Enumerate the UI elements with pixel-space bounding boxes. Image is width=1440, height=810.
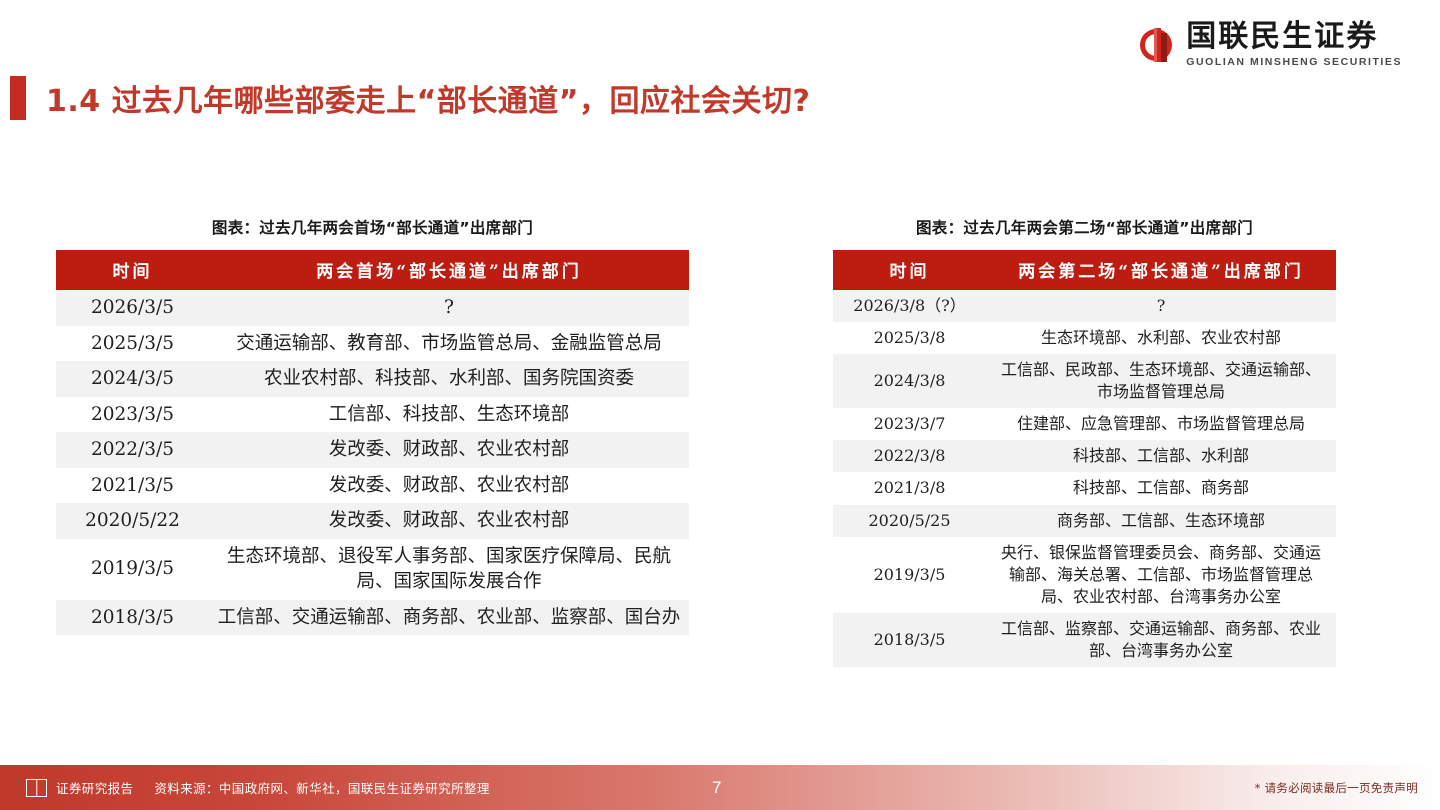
cell-departments: 科技部、工信部、商务部 [986, 472, 1336, 504]
table-row: 2022/3/5发改委、财政部、农业农村部 [56, 432, 689, 468]
table-header-row: 时间 两会第二场“部长通道”出席部门 [833, 250, 1336, 290]
cell-date: 2019/3/5 [56, 539, 209, 600]
cell-date: 2025/3/5 [56, 326, 209, 362]
table-row: 2023/3/7住建部、应急管理部、市场监督管理总局 [833, 408, 1336, 440]
cell-departments: 央行、银保监督管理委员会、商务部、交通运输部、海关总署、工信部、市场监督管理总局… [986, 537, 1336, 613]
cell-departments: 生态环境部、退役军人事务部、国家医疗保障局、民航局、国家国际发展合作 [209, 539, 689, 600]
table-row: 2021/3/8科技部、工信部、商务部 [833, 472, 1336, 504]
table-row: 2024/3/5农业农村部、科技部、水利部、国务院国资委 [56, 361, 689, 397]
panel-second-session: 图表：过去几年两会第二场“部长通道”出席部门 时间 两会第二场“部长通道”出席部… [833, 216, 1336, 667]
cell-date: 2019/3/5 [833, 537, 986, 613]
cell-departments: 商务部、工信部、生态环境部 [986, 505, 1336, 537]
table-second-session: 时间 两会第二场“部长通道”出席部门 2026/3/8（?）?2025/3/8生… [833, 250, 1336, 667]
cell-date: 2018/3/5 [56, 600, 209, 636]
table-header-row: 时间 两会首场“部长通道”出席部门 [56, 250, 689, 290]
logo-chinese-name: 国联民生证券 [1186, 22, 1402, 52]
table-row: 2019/3/5央行、银保监督管理委员会、商务部、交通运输部、海关总署、工信部、… [833, 537, 1336, 613]
cell-departments: 工信部、交通运输部、商务部、农业部、监察部、国台办 [209, 600, 689, 636]
cell-departments: 交通运输部、教育部、市场监管总局、金融监管总局 [209, 326, 689, 362]
cell-departments: 工信部、监察部、交通运输部、商务部、农业部、台湾事务办公室 [986, 613, 1336, 667]
title-accent-bar [10, 76, 26, 120]
brand-logo: 国联民生证券 GUOLIAN MINSHENG SECURITIES [1136, 22, 1402, 68]
page-title: 1.4 过去几年哪些部委走上“部长通道”，回应社会关切? [46, 76, 810, 120]
table-row: 2026/3/5? [56, 290, 689, 326]
table-row: 2021/3/5发改委、财政部、农业农村部 [56, 468, 689, 504]
footer-source-text: 资料来源：中国政府网、新华社，国联民生证券研究所整理 [154, 778, 489, 797]
cell-date: 2022/3/8 [833, 440, 986, 472]
column-header-departments: 两会首场“部长通道”出席部门 [209, 250, 689, 290]
book-icon [26, 779, 47, 797]
cell-departments: 发改委、财政部、农业农村部 [209, 432, 689, 468]
cell-departments: ? [986, 290, 1336, 322]
cell-departments: 工信部、民政部、生态环境部、交通运输部、市场监督管理总局 [986, 354, 1336, 408]
cell-departments: 发改委、财政部、农业农村部 [209, 503, 689, 539]
page-number: 7 [712, 765, 721, 810]
cell-date: 2020/5/22 [56, 503, 209, 539]
cell-departments: ? [209, 290, 689, 326]
cell-date: 2026/3/5 [56, 290, 209, 326]
cell-date: 2018/3/5 [833, 613, 986, 667]
cell-departments: 农业农村部、科技部、水利部、国务院国资委 [209, 361, 689, 397]
table-row: 2020/5/25商务部、工信部、生态环境部 [833, 505, 1336, 537]
page-footer: 证券研究报告 资料来源：中国政府网、新华社，国联民生证券研究所整理 7 * 请务… [0, 765, 1440, 810]
cell-date: 2023/3/7 [833, 408, 986, 440]
cell-date: 2021/3/8 [833, 472, 986, 504]
table-row: 2018/3/5工信部、交通运输部、商务部、农业部、监察部、国台办 [56, 600, 689, 636]
table-row: 2026/3/8（?）? [833, 290, 1336, 322]
logo-english-name: GUOLIAN MINSHENG SECURITIES [1186, 57, 1402, 68]
table-row: 2018/3/5工信部、监察部、交通运输部、商务部、农业部、台湾事务办公室 [833, 613, 1336, 667]
footer-disclaimer: * 请务必阅读最后一页免责声明 [1255, 765, 1418, 810]
column-header-date: 时间 [56, 250, 209, 290]
cell-date: 2024/3/8 [833, 354, 986, 408]
table-row: 2023/3/5工信部、科技部、生态环境部 [56, 397, 689, 433]
panel-caption-left: 图表：过去几年两会首场“部长通道”出席部门 [56, 216, 689, 238]
cell-departments: 科技部、工信部、水利部 [986, 440, 1336, 472]
cell-date: 2021/3/5 [56, 468, 209, 504]
cell-date: 2023/3/5 [56, 397, 209, 433]
panel-caption-right: 图表：过去几年两会第二场“部长通道”出席部门 [833, 216, 1336, 238]
cell-date: 2026/3/8（?） [833, 290, 986, 322]
table-row: 2022/3/8科技部、工信部、水利部 [833, 440, 1336, 472]
footer-source-group: 证券研究报告 资料来源：中国政府网、新华社，国联民生证券研究所整理 [26, 765, 490, 810]
table-first-session: 时间 两会首场“部长通道”出席部门 2026/3/5?2025/3/5交通运输部… [56, 250, 689, 635]
table-row: 2024/3/8工信部、民政部、生态环境部、交通运输部、市场监督管理总局 [833, 354, 1336, 408]
cell-date: 2024/3/5 [56, 361, 209, 397]
cell-date: 2020/5/25 [833, 505, 986, 537]
cell-departments: 生态环境部、水利部、农业农村部 [986, 322, 1336, 354]
table-row: 2020/5/22发改委、财政部、农业农村部 [56, 503, 689, 539]
cell-date: 2022/3/5 [56, 432, 209, 468]
cell-departments: 住建部、应急管理部、市场监督管理总局 [986, 408, 1336, 440]
cell-departments: 工信部、科技部、生态环境部 [209, 397, 689, 433]
table-row: 2025/3/8生态环境部、水利部、农业农村部 [833, 322, 1336, 354]
cell-departments: 发改委、财政部、农业农村部 [209, 468, 689, 504]
footer-report-label: 证券研究报告 [56, 778, 133, 797]
table-row: 2019/3/5生态环境部、退役军人事务部、国家医疗保障局、民航局、国家国际发展… [56, 539, 689, 600]
panel-first-session: 图表：过去几年两会首场“部长通道”出席部门 时间 两会首场“部长通道”出席部门 … [56, 216, 689, 635]
cell-date: 2025/3/8 [833, 322, 986, 354]
table-row: 2025/3/5交通运输部、教育部、市场监管总局、金融监管总局 [56, 326, 689, 362]
guolian-logo-icon [1136, 25, 1176, 65]
column-header-date: 时间 [833, 250, 986, 290]
column-header-departments: 两会第二场“部长通道”出席部门 [986, 250, 1336, 290]
